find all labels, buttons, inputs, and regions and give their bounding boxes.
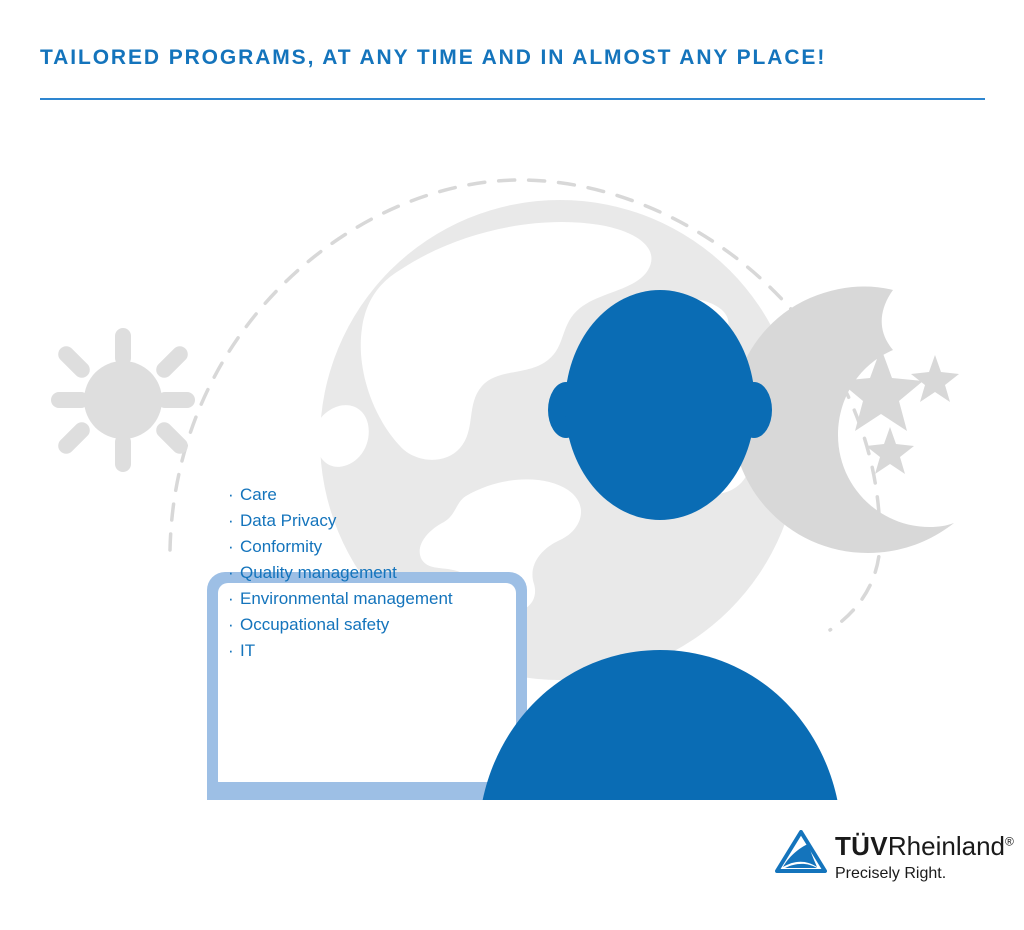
list-bullet: ·: [228, 534, 240, 560]
list-item: ·Care: [228, 482, 518, 508]
list-bullet: ·: [228, 508, 240, 534]
list-item-label: Data Privacy: [240, 511, 336, 530]
tuv-rheinland-triangle-icon: [775, 830, 827, 879]
list-item: ·IT: [228, 638, 518, 664]
header-divider: [40, 98, 985, 100]
list-item-label: Conformity: [240, 537, 322, 556]
list-item-label: Quality management: [240, 563, 397, 582]
page-title: TAILORED PROGRAMS, AT ANY TIME AND IN AL…: [40, 46, 826, 70]
sun-icon: [51, 328, 195, 472]
logo-tagline: Precisely Right.: [835, 865, 1014, 883]
logo-word-rheinland: Rheinland: [888, 831, 1005, 861]
list-item: ·Data Privacy: [228, 508, 518, 534]
list-item: ·Environmental management: [228, 586, 518, 612]
list-bullet: ·: [228, 586, 240, 612]
list-item-label: IT: [240, 641, 255, 660]
logo-word-tuv: TÜV: [835, 831, 888, 861]
hero-illustration: [0, 110, 1024, 800]
list-item: ·Conformity: [228, 534, 518, 560]
brand-logo: TÜVRheinland® Precisely Right.: [775, 828, 1005, 898]
laptop-screen-list: ·Care ·Data Privacy ·Conformity ·Quality…: [228, 482, 518, 664]
list-bullet: ·: [228, 560, 240, 586]
list-item: ·Occupational safety: [228, 612, 518, 638]
list-item: ·Quality management: [228, 560, 518, 586]
logo-wordmark: TÜVRheinland®: [835, 832, 1014, 860]
list-item-label: Occupational safety: [240, 615, 389, 634]
list-item-label: Environmental management: [240, 589, 453, 608]
list-bullet: ·: [228, 638, 240, 664]
list-bullet: ·: [228, 482, 240, 508]
list-bullet: ·: [228, 612, 240, 638]
registered-mark: ®: [1005, 834, 1014, 848]
list-item-label: Care: [240, 485, 277, 504]
